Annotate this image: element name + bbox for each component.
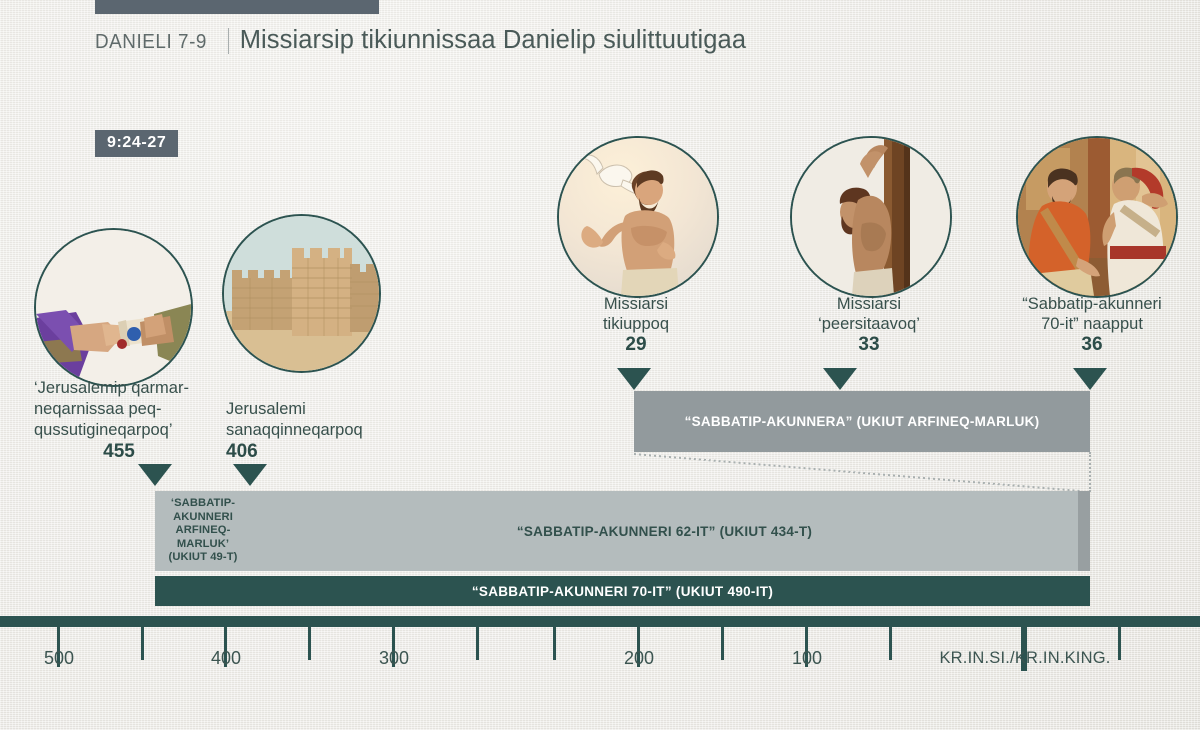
arrive-year: 29 <box>556 335 716 355</box>
scroll-handoff-icon <box>36 230 191 385</box>
arrive-line-2: tikiuppoq <box>603 315 669 333</box>
decree-line-1: ‘Jerusalemip qarmar- <box>34 379 189 397</box>
rebuild-line-1: Jerusalemi <box>226 400 306 418</box>
timeline-axis <box>0 616 1200 627</box>
bar-70-label: “SABBATIP-AKUNNERI 70-IT” (UKIUT 490-IT) <box>472 584 773 599</box>
dotted-connector-vertical <box>1089 452 1091 492</box>
marker-406 <box>233 464 267 486</box>
header-divider <box>228 28 229 54</box>
event-label-messiah-arrives: Missiarsi tikiuppoq 29 <box>556 294 716 355</box>
bar-62-label: “SABBATIP-AKUNNERI 62-IT” (UKIUT 434-T) <box>517 524 812 539</box>
cutoff-line-2: ‘peersitaavoq’ <box>818 315 920 333</box>
marker-33 <box>823 368 857 390</box>
dotted-connector-diagonal <box>634 453 1080 492</box>
event-label-messiah-cut-off: Missiarsi ‘peersitaavoq’ 33 <box>789 294 949 355</box>
tick-minor-250 <box>476 627 479 660</box>
bar-forty-nine-years: ‘SABBATIP- AKUNNERI ARFINEQ- MARLUK’ (UK… <box>155 491 251 571</box>
page-title: Missiarsip tikiunnissaa Danielip siulitt… <box>240 26 746 55</box>
top-accent-bar <box>95 0 379 14</box>
decree-line-2: neqarnissaa peq- <box>34 400 162 418</box>
illustration-stake-figure <box>790 136 952 298</box>
bar-49-line-2: AKUNNERI <box>173 511 233 523</box>
end-line-1: “Sabbatip-akunneri <box>1022 295 1161 313</box>
bar-seven-weeks-top: “SABBATIP-AKUNNERA” (UKIUT ARFINEQ-MARLU… <box>634 391 1090 452</box>
marker-29 <box>617 368 651 390</box>
decree-year: 455 <box>34 441 204 462</box>
arrive-line-1: Missiarsi <box>604 295 668 313</box>
scripture-reference: DANIELI 7-9 <box>95 30 207 54</box>
tick-minor-220 <box>553 627 556 660</box>
tick-minor-450 <box>141 627 144 660</box>
bar-49-label: ‘SABBATIP- AKUNNERI ARFINEQ- MARLUK’ (UK… <box>169 497 238 565</box>
end-line-2: 70-it” naapput <box>1041 315 1143 333</box>
event-label-rebuild: Jerusalemi sanaqqinneqarpoq 406 <box>226 399 391 462</box>
bar-seventy-weeks-total: “SABBATIP-AKUNNERI 70-IT” (UKIUT 490-IT) <box>155 576 1090 606</box>
tick-minor-350 <box>308 627 311 660</box>
end-year: 36 <box>992 335 1192 355</box>
marker-455 <box>138 464 172 486</box>
illustration-hands-passing-scroll <box>34 228 193 387</box>
cutoff-year: 33 <box>789 335 949 355</box>
rebuild-year: 406 <box>226 441 391 462</box>
bar-49-line-3: ARFINEQ- <box>176 524 231 536</box>
baptism-dove-icon <box>559 138 717 296</box>
illustration-baptism-dove <box>557 136 719 298</box>
bar-sixty-two-weeks-tail <box>1078 491 1090 571</box>
bar-seven-weeks-top-label: “SABBATIP-AKUNNERA” (UKIUT ARFINEQ-MARLU… <box>685 414 1040 429</box>
bar-49-line-4: MARLUK’ <box>177 538 229 550</box>
tick-label-200: 200 <box>604 648 674 669</box>
bar-49-line-5: (UKIUT 49-T) <box>169 551 238 563</box>
page-header: DANIELI 7-9 Missiarsip tikiunnissaa Dani… <box>95 26 746 55</box>
event-label-decree: ‘Jerusalemip qarmar- neqarnissaa peq- qu… <box>34 378 204 462</box>
city-walls-icon <box>224 216 379 371</box>
tick-label-300: 300 <box>359 648 429 669</box>
stake-figure-icon <box>792 138 950 296</box>
tick-label-epoch: KR.IN.SI./KR.IN.KING. <box>930 649 1120 668</box>
verse-badge: 9:24-27 <box>95 130 178 157</box>
tick-minor-150 <box>721 627 724 660</box>
decree-line-3: qussutigineqarpoq’ <box>34 421 173 439</box>
cornelius-meeting-icon <box>1018 138 1176 296</box>
tick-label-500: 500 <box>24 648 94 669</box>
rebuild-line-2: sanaqqinneqarpoq <box>226 421 363 439</box>
bar-49-line-1: ‘SABBATIP- <box>171 497 235 509</box>
illustration-cornelius-meeting <box>1016 136 1178 298</box>
marker-36 <box>1073 368 1107 390</box>
illustration-city-walls <box>222 214 381 373</box>
event-label-seventy-weeks-end: “Sabbatip-akunneri 70-it” naapput 36 <box>992 294 1192 355</box>
tick-label-400: 400 <box>191 648 261 669</box>
bar-sixty-two-weeks: “SABBATIP-AKUNNERI 62-IT” (UKIUT 434-T) <box>251 491 1078 571</box>
cutoff-line-1: Missiarsi <box>837 295 901 313</box>
tick-label-100: 100 <box>772 648 842 669</box>
tick-minor-50 <box>889 627 892 660</box>
